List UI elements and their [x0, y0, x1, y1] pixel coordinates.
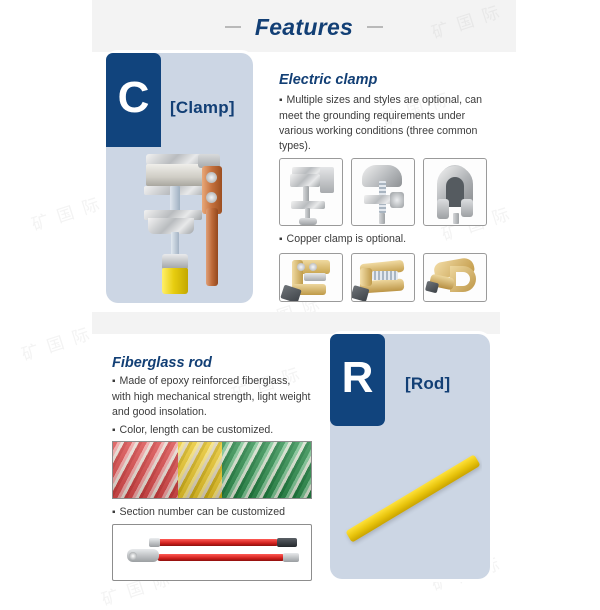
copper-clamp-thumbnail-1: [279, 253, 343, 302]
clamp-badge-label: [Clamp]: [170, 98, 235, 118]
fiberglass-rod-bullet-3: Section number can be customized: [112, 505, 312, 521]
bullet-text: Color, length can be customized.: [112, 423, 312, 439]
rod-badge-label: [Rod]: [405, 374, 450, 394]
bullet-text: Copper clamp is optional.: [279, 232, 495, 248]
copper-clamp-thumbnail-3: [423, 253, 487, 302]
yellow-rod-photo: [342, 430, 482, 570]
clamp-badge: C: [106, 53, 161, 147]
electric-clamp-bullet-2: Copper clamp is optional.: [279, 232, 495, 248]
electric-clamp-photo: [124, 148, 232, 293]
bullet-text: Made of epoxy reinforced fiberglass, wit…: [112, 374, 312, 420]
fiberglass-rod-bullet-1: Made of epoxy reinforced fiberglass, wit…: [112, 374, 312, 420]
rod-badge: R: [330, 334, 385, 426]
clamp-thumbnail-1: [279, 158, 343, 226]
section-divider-band: [92, 312, 500, 334]
watermark: 矿 国 际: [28, 190, 104, 236]
fiberglass-rod-bullet-2: Color, length can be customized.: [112, 423, 312, 439]
electric-clamp-title: Electric clamp: [279, 72, 377, 88]
telescopic-rod-sections: [112, 524, 312, 581]
page-title-text: Features: [255, 14, 353, 41]
fiberglass-rods-bundle: [112, 441, 312, 499]
copper-clamp-thumbnail-2: [351, 253, 415, 302]
title-dash-right: [367, 26, 383, 28]
bullet-text: Section number can be customized: [112, 505, 312, 521]
page-title: Features: [92, 10, 516, 44]
fiberglass-rod-title: Fiberglass rod: [112, 355, 212, 371]
clamp-thumbnail-2: [351, 158, 415, 226]
watermark: 矿 国 际: [18, 320, 94, 366]
bullet-text: Multiple sizes and styles are optional, …: [279, 93, 495, 155]
clamp-thumbnail-3: [423, 158, 487, 226]
clamp-badge-letter: C: [118, 76, 150, 120]
rod-badge-letter: R: [342, 356, 374, 400]
electric-clamp-bullet-1: Multiple sizes and styles are optional, …: [279, 93, 495, 155]
title-dash-left: [225, 26, 241, 28]
feature-page: Features 矿 国 际 矿 国 际 矿 国 际 矿 国 际 矿 国 际 矿…: [0, 0, 600, 600]
